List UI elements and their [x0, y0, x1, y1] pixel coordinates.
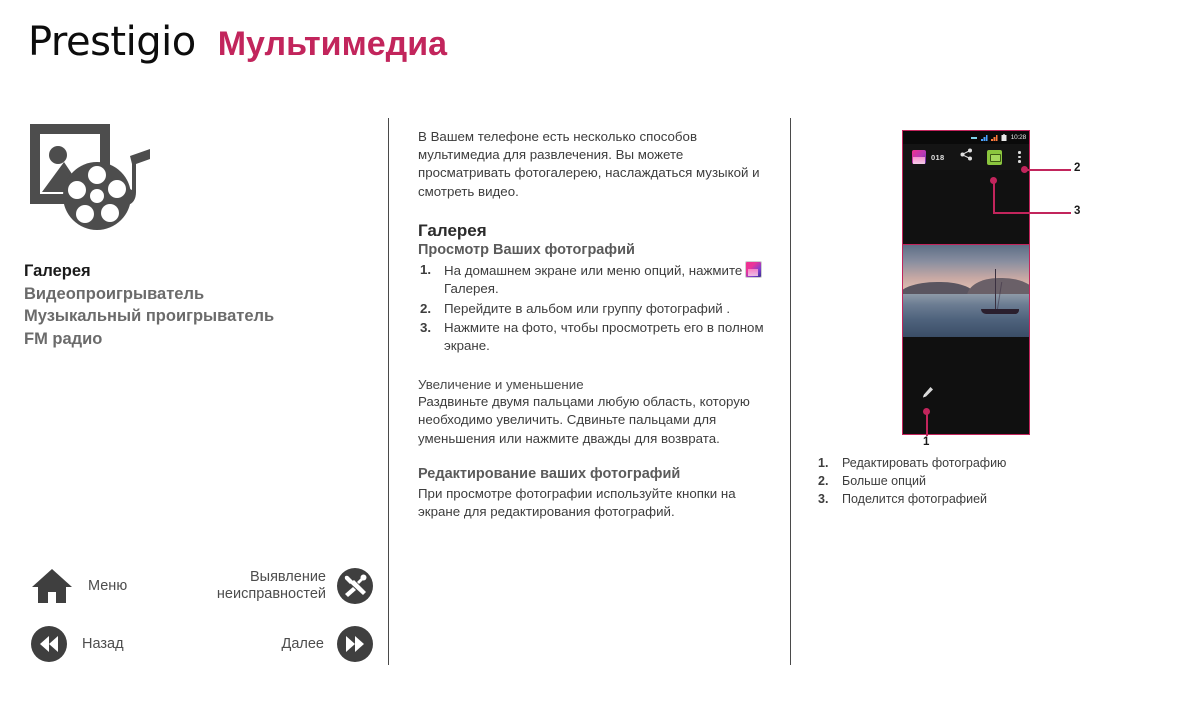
- bottom-navigation: Меню Назад Выявление неисправностей: [22, 563, 374, 673]
- phone-lower-area: [903, 337, 1029, 435]
- section-nav-list: Галерея Видеопроигрыватель Музыкальный п…: [24, 260, 354, 350]
- troubleshooting-label-line2: неисправностей: [217, 586, 326, 602]
- step-number: 3.: [420, 319, 431, 337]
- green-camera-icon[interactable]: [987, 150, 1002, 165]
- sidebar-item-music-player[interactable]: Музыкальный проигрыватель: [24, 305, 354, 328]
- menu-label: Меню: [88, 578, 127, 594]
- step-number: 1.: [420, 261, 431, 279]
- callout-line-3-vert: [993, 180, 995, 213]
- column-divider-right: [790, 118, 791, 665]
- callout-line-1: [926, 411, 928, 436]
- zoom-body: Раздвиньте двумя пальцами любую область,…: [418, 393, 770, 448]
- troubleshooting-button[interactable]: Выявление неисправностей: [217, 563, 374, 609]
- list-item: 3. Нажмите на фото, чтобы просмотреть ег…: [418, 319, 770, 356]
- step-text: Перейдите в альбом или группу фотографий…: [444, 301, 730, 316]
- edit-body: При просмотре фотографии используйте кно…: [418, 485, 770, 522]
- callout-number-3: 3: [1074, 205, 1080, 217]
- column-divider-left: [388, 118, 389, 665]
- overflow-menu-icon[interactable]: [1018, 151, 1021, 164]
- phone-status-bar: 10:28: [903, 131, 1029, 144]
- back-button[interactable]: Назад: [30, 621, 124, 667]
- list-item: 2. Больше опций: [814, 472, 1114, 490]
- gallery-app-icon: [745, 261, 762, 278]
- sidebar-item-video-player[interactable]: Видеопроигрыватель: [24, 283, 354, 306]
- list-item: 3. Поделится фотографией: [814, 490, 1114, 508]
- callout-number-1: 1: [923, 436, 929, 448]
- tools-icon: [336, 567, 374, 605]
- right-column: 10:28 018: [812, 118, 1172, 668]
- main-content: В Вашем телефоне есть несколько способов…: [418, 128, 770, 522]
- legend-number: 1.: [818, 454, 828, 472]
- status-bar-time: 10:28: [1011, 134, 1026, 141]
- legend-text: Больше опций: [842, 474, 926, 488]
- rewind-icon: [30, 625, 68, 663]
- edit-heading: Редактирование ваших фотографий: [418, 466, 770, 482]
- list-item: 1. Редактировать фотографию: [814, 454, 1114, 472]
- step-text: Нажмите на фото, чтобы просмотреть его в…: [444, 320, 764, 353]
- gallery-video-music-icon: [24, 118, 156, 241]
- home-icon: [30, 565, 74, 607]
- legend-number: 2.: [818, 472, 828, 490]
- step-text-after: Галерея.: [444, 281, 499, 296]
- phone-action-title: 018: [931, 153, 944, 162]
- callout-number-2: 2: [1074, 162, 1080, 174]
- step-text: На домашнем экране или меню опций, нажми…: [444, 263, 742, 278]
- fast-forward-icon: [336, 625, 374, 663]
- page-title: Мультимедиа: [218, 27, 447, 61]
- legend-text: Редактировать фотографию: [842, 456, 1006, 470]
- page-header: Prestigio Мультимедиа: [28, 22, 447, 62]
- list-item: 2. Перейдите в альбом или группу фотогра…: [418, 300, 770, 318]
- callout-line-3-horz: [993, 212, 1071, 214]
- gallery-heading: Галерея: [418, 221, 770, 241]
- menu-button[interactable]: Меню: [30, 563, 127, 609]
- edit-pencil-icon[interactable]: [921, 386, 934, 404]
- legend-number: 3.: [818, 490, 828, 508]
- next-button[interactable]: Далее: [282, 621, 374, 667]
- intro-paragraph: В Вашем телефоне есть несколько способов…: [418, 128, 770, 201]
- back-label: Назад: [82, 636, 124, 652]
- legend-text: Поделится фотографией: [842, 492, 987, 506]
- phone-screenshot: 10:28 018: [902, 130, 1030, 435]
- share-icon[interactable]: [960, 148, 973, 166]
- left-column: Галерея Видеопроигрыватель Музыкальный п…: [22, 118, 372, 668]
- view-photos-heading: Просмотр Ваших фотографий: [418, 242, 770, 258]
- troubleshooting-label: Выявление неисправностей: [217, 569, 326, 603]
- brand-logo: Prestigio: [28, 22, 196, 62]
- zoom-heading: Увеличение и уменьшение: [418, 377, 770, 392]
- troubleshooting-label-line1: Выявление: [250, 569, 326, 585]
- sidebar-item-gallery[interactable]: Галерея: [24, 260, 354, 283]
- step-number: 2.: [420, 300, 431, 318]
- phone-photo-sailboat: [903, 244, 1029, 338]
- next-label: Далее: [282, 636, 324, 652]
- gallery-app-icon: [912, 150, 926, 164]
- list-item: 1. На домашнем экране или меню опций, на…: [418, 261, 770, 299]
- sidebar-item-fm-radio[interactable]: FM радио: [24, 328, 354, 351]
- callout-legend: 1. Редактировать фотографию 2. Больше оп…: [814, 454, 1114, 508]
- phone-action-bar: 018: [903, 144, 1029, 170]
- callout-line-2: [1024, 169, 1071, 171]
- view-photos-steps: 1. На домашнем экране или меню опций, на…: [418, 261, 770, 356]
